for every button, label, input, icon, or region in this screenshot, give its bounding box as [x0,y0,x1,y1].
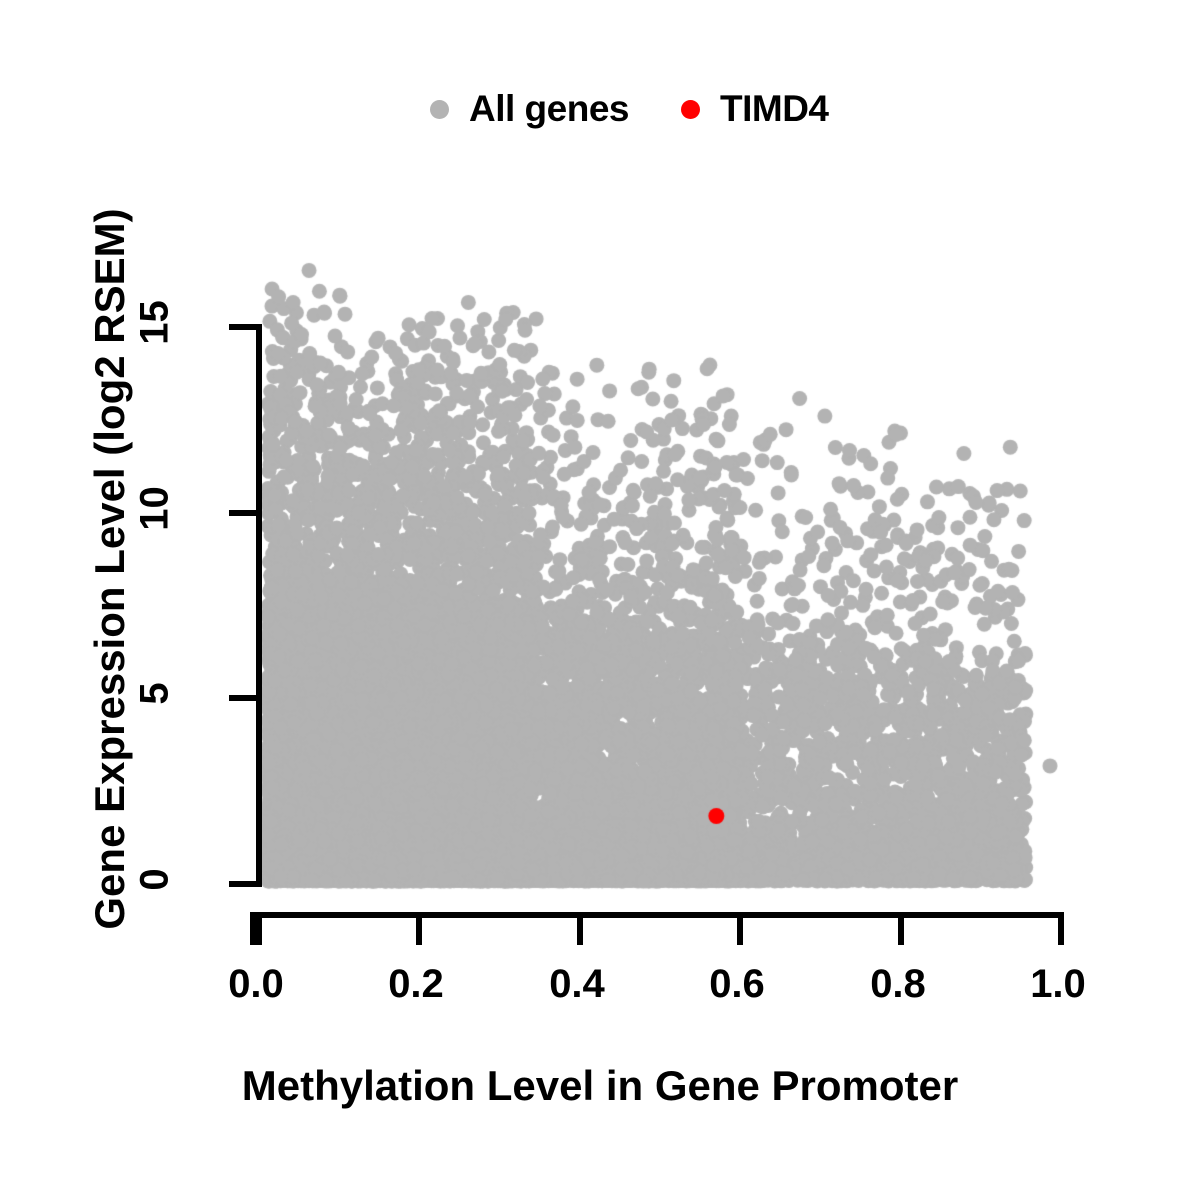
legend-marker-circle-red-icon [681,100,700,119]
x-axis-tick [577,912,583,945]
x-axis-tick [256,912,262,945]
y-axis-tick [229,695,262,701]
x-axis-tick [250,912,256,945]
y-axis-tick-label: 5 [133,659,178,729]
y-axis [229,318,263,888]
x-axis [250,912,1070,952]
x-axis-tick-label: 0.4 [517,962,637,1007]
x-axis-tick-label: 0.0 [196,962,316,1007]
y-axis-tick [229,510,262,516]
scatter-points-canvas [256,240,1058,900]
x-axis-tick-label: 0.2 [356,962,476,1007]
scatter-plot-figure: All genes TIMD4 0 5 10 15 0.0 0.2 0.4 0. [0,0,1200,1200]
plot-area [256,240,1058,900]
x-axis-line [256,912,1064,918]
x-axis-tick [737,912,743,945]
legend-marker-circle-grey-icon [430,100,449,119]
x-axis-tick [1058,912,1064,945]
y-axis-tick-label: 0 [133,845,178,915]
legend-label-timd4: TIMD4 [720,88,829,130]
x-axis-tick [416,912,422,945]
y-axis-tick [229,881,262,887]
chart-legend: All genes TIMD4 [430,78,950,140]
y-axis-tick [229,324,262,330]
legend-label-all-genes: All genes [469,88,629,130]
y-axis-tick-label: 15 [133,288,178,358]
legend-entry-all-genes: All genes [430,88,629,130]
y-axis-line [256,324,262,881]
y-axis-tick-label: 10 [133,474,178,544]
legend-entry-timd4: TIMD4 [681,88,829,130]
x-axis-title: Methylation Level in Gene Promoter [0,1062,1200,1110]
x-axis-tick-label: 0.6 [677,962,797,1007]
x-axis-tick-label: 0.8 [838,962,958,1007]
x-axis-tick [898,912,904,945]
x-axis-tick-label: 1.0 [998,962,1118,1007]
y-axis-title: Gene Expression Level (log2 RSEM) [86,169,134,969]
